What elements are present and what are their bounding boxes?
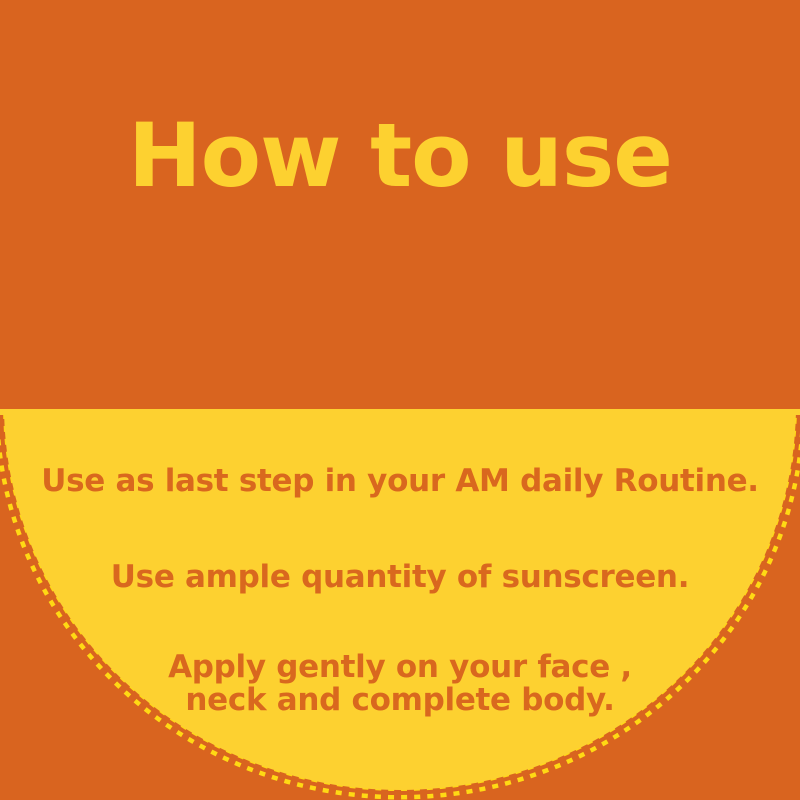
instruction-step-3: Apply gently on your face , neck and com…	[0, 651, 800, 718]
instruction-step-3-line-2: neck and complete body.	[0, 684, 800, 717]
instruction-step-2: Use ample quantity of sunscreen.	[0, 561, 800, 594]
instructions-section: Use as last step in your AM daily Routin…	[0, 405, 800, 800]
instruction-step-3-line-1: Apply gently on your face ,	[0, 651, 800, 684]
instruction-step-1: Use as last step in your AM daily Routin…	[0, 465, 800, 498]
poster-canvas: How to use Use as last step in your AM d…	[0, 0, 800, 800]
